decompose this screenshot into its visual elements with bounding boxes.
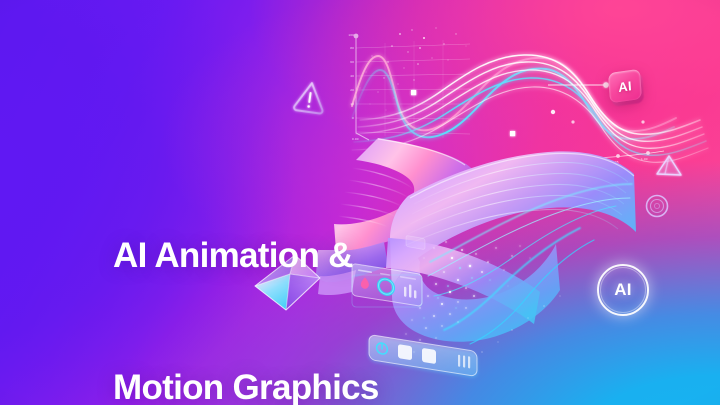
page-title-line-1: AI Animation &	[113, 234, 379, 278]
toolbar-button-1	[398, 344, 412, 360]
ai-circle-badge[interactable]: AI	[597, 264, 649, 316]
ai-circle-badge-label: AI	[597, 264, 649, 316]
toolbar-grip-handle	[458, 355, 470, 369]
toolbar-button-2	[422, 348, 436, 364]
wireframe-tetrahedron-icon	[654, 153, 684, 181]
page-title: AI Animation & Motion Graphics	[113, 146, 379, 405]
warning-triangle-icon	[292, 78, 328, 116]
toolbar-panel[interactable]	[366, 331, 482, 383]
ai-square-badge-label: AI	[618, 78, 633, 95]
small-glass-chip	[404, 233, 428, 251]
hero-banner: 100 80 60 40 20 10 0 0.00 0.10 0.25 0.50…	[0, 0, 720, 405]
concentric-ring-icon	[644, 193, 670, 219]
page-title-line-2: Motion Graphics	[113, 366, 379, 405]
ai-square-badge-face: AI	[608, 69, 642, 103]
ai-square-badge[interactable]: AI	[608, 69, 642, 103]
